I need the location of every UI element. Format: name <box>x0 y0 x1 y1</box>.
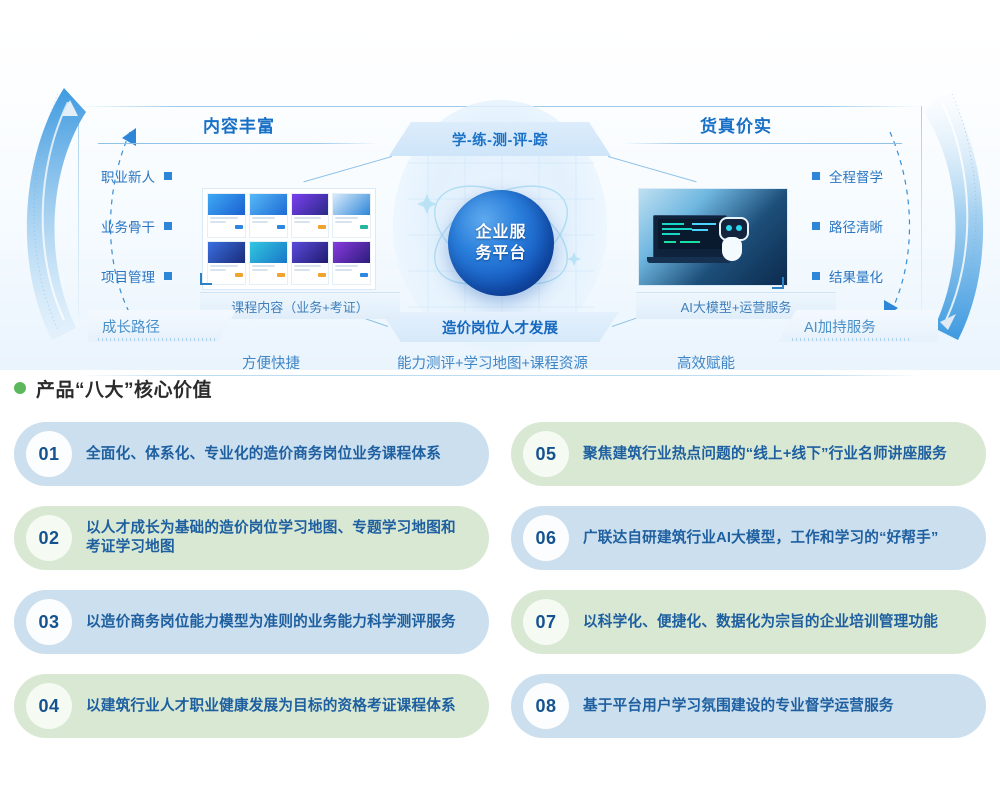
value-card-text: 以人才成长为基础的造价岗位学习地图、专题学习地图和考证学习地图 <box>86 519 467 557</box>
value-card-07[interactable]: 07 以科学化、便捷化、数据化为宗旨的企业培训管理功能 <box>511 590 986 654</box>
course-card-grid <box>207 193 371 285</box>
right-title-underline <box>622 143 902 144</box>
left-bullet-label-1: 职业新人 <box>101 166 155 186</box>
green-dot-icon <box>14 382 26 394</box>
value-card-number: 05 <box>523 431 569 477</box>
list-item: 业务骨干 <box>100 214 172 238</box>
course-grid-screenshot <box>202 188 376 290</box>
right-bullet-label-3: 结果量化 <box>829 266 883 286</box>
laptop-icon <box>653 215 727 261</box>
page-title: 产品“八大”核心价值 <box>36 375 212 402</box>
laptop-screen <box>658 219 722 249</box>
right-caption-label: AI大模型+运营服务 <box>681 297 792 316</box>
image-corner-decoration <box>772 277 784 289</box>
list-item: 职业新人 <box>100 164 172 188</box>
left-bullet-list: 职业新人 业务骨干 项目管理 <box>100 164 172 314</box>
value-card-01[interactable]: 01 全面化、体系化、专业化的造价商务岗位业务课程体系 <box>14 422 489 486</box>
list-item: 结果量化 <box>812 264 908 288</box>
screenshot-corner-decoration <box>200 273 212 285</box>
value-card-05[interactable]: 05 聚焦建筑行业热点问题的“线上+线下”行业名师讲座服务 <box>511 422 986 486</box>
right-column-title: 货真价实 <box>700 112 772 137</box>
value-card-text: 基于平台用户学习氛围建设的专业督学运营服务 <box>583 697 894 716</box>
square-bullet-icon <box>812 222 820 230</box>
robot-body <box>722 237 742 261</box>
value-card-06[interactable]: 06 广联达自研建筑行业AI大模型，工作和学习的“好帮手” <box>511 506 986 570</box>
right-bullet-label-2: 路径清晰 <box>829 216 883 236</box>
left-title-underline <box>98 143 378 144</box>
center-top-banner-label: 学-练-测-评-踪 <box>452 129 548 150</box>
right-bullet-label-1: 全程督学 <box>829 166 883 186</box>
course-card <box>332 193 371 238</box>
value-card-text: 以造价商务岗位能力模型为准则的业务能力科学测评服务 <box>86 613 456 632</box>
value-card-number: 03 <box>26 599 72 645</box>
list-item: 项目管理 <box>100 264 172 288</box>
value-card-text: 以建筑行业人才职业健康发展为目标的资格考证课程体系 <box>86 697 456 716</box>
value-card-number: 01 <box>26 431 72 477</box>
ai-robot-laptop-image <box>638 188 788 286</box>
center-top-banner: 学-练-测-评-踪 <box>389 122 611 156</box>
square-bullet-icon <box>812 272 820 280</box>
center-bottom-banner-label: 造价岗位人才发展 <box>442 317 558 338</box>
left-caption-label: 课程内容（业务+考证） <box>231 297 369 316</box>
sphere-line-1: 企业服 <box>475 222 526 243</box>
list-item: 全程督学 <box>812 164 908 188</box>
value-card-number: 07 <box>523 599 569 645</box>
value-card-text: 广联达自研建筑行业AI大模型，工作和学习的“好帮手” <box>583 529 938 548</box>
growth-path-chip-rule <box>98 338 216 341</box>
square-bullet-icon <box>164 272 172 280</box>
value-card-02[interactable]: 02 以人才成长为基础的造价岗位学习地图、专题学习地图和考证学习地图 <box>14 506 489 570</box>
list-item: 路径清晰 <box>812 214 908 238</box>
course-card <box>207 193 246 238</box>
ai-illustration <box>639 189 787 285</box>
growth-path-label: 成长路径 <box>102 316 160 337</box>
value-card-number: 02 <box>26 515 72 561</box>
left-curved-arrow-icon <box>18 76 88 346</box>
value-card-number: 08 <box>523 683 569 729</box>
infographic-page: 学-练-测-评-踪 企业服 务平台 造价岗位人才发展 内容丰富 货真价实 职业新… <box>0 0 1000 800</box>
square-bullet-icon <box>164 172 172 180</box>
course-card <box>207 241 246 286</box>
core-values-section: 产品“八大”核心价值 01 全面化、体系化、专业化的造价商务岗位业务课程体系 0… <box>0 370 1000 738</box>
square-bullet-icon <box>164 222 172 230</box>
course-card <box>291 241 330 286</box>
course-card <box>249 241 288 286</box>
square-bullet-icon <box>812 172 820 180</box>
ai-service-chip-rule <box>792 338 910 341</box>
robot-icon <box>717 217 747 261</box>
value-card-04[interactable]: 04 以建筑行业人才职业健康发展为目标的资格考证课程体系 <box>14 674 489 738</box>
right-curved-arrow-icon <box>922 76 992 346</box>
platform-sphere: 企业服 务平台 <box>448 190 554 296</box>
value-card-number: 06 <box>523 515 569 561</box>
value-card-text: 聚焦建筑行业热点问题的“线上+线下”行业名师讲座服务 <box>583 445 947 464</box>
value-card-number: 04 <box>26 683 72 729</box>
value-card-08[interactable]: 08 基于平台用户学习氛围建设的专业督学运营服务 <box>511 674 986 738</box>
center-bottom-banner: 造价岗位人才发展 <box>381 312 619 342</box>
platform-diagram: 学-练-测-评-踪 企业服 务平台 造价岗位人才发展 内容丰富 货真价实 职业新… <box>0 30 1000 370</box>
course-card <box>249 193 288 238</box>
left-column-title: 内容丰富 <box>203 112 275 137</box>
course-card <box>332 241 371 286</box>
left-bullet-label-3: 项目管理 <box>101 266 155 286</box>
section-header: 产品“八大”核心价值 <box>14 370 1000 406</box>
value-card-text: 全面化、体系化、专业化的造价商务岗位业务课程体系 <box>86 445 441 464</box>
left-bullet-label-2: 业务骨干 <box>101 216 155 236</box>
value-card-text: 以科学化、便捷化、数据化为宗旨的企业培训管理功能 <box>583 613 938 632</box>
value-card-03[interactable]: 03 以造价商务岗位能力模型为准则的业务能力科学测评服务 <box>14 590 489 654</box>
value-cards-grid: 01 全面化、体系化、专业化的造价商务岗位业务课程体系 05 聚焦建筑行业热点问… <box>0 406 1000 738</box>
sphere-line-2: 务平台 <box>475 243 526 264</box>
course-card <box>291 193 330 238</box>
ai-service-label: AI加持服务 <box>804 316 876 337</box>
